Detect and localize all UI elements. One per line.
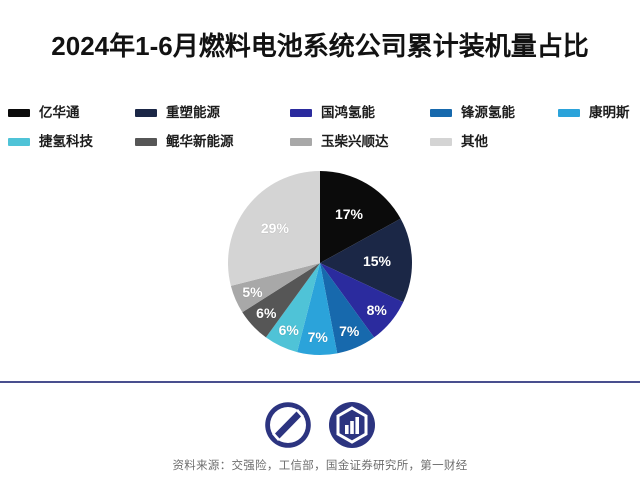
pie-slice-label-2: 8% bbox=[367, 302, 387, 318]
legend-item-5[interactable]: 捷氢科技 bbox=[8, 133, 93, 151]
legend-label: 其他 bbox=[461, 133, 488, 151]
legend-label: 国鸿氢能 bbox=[321, 104, 375, 122]
footer-divider bbox=[0, 381, 640, 383]
legend-label: 重塑能源 bbox=[166, 104, 220, 122]
brand-logos bbox=[0, 396, 640, 454]
hexagon-bars-logo-icon bbox=[326, 399, 378, 451]
legend-item-1[interactable]: 重塑能源 bbox=[135, 104, 220, 122]
pie-slice-label-4: 7% bbox=[308, 329, 328, 345]
legend-swatch-icon bbox=[8, 138, 30, 146]
legend-swatch-icon bbox=[135, 138, 157, 146]
pie-slice-label-5: 6% bbox=[279, 322, 299, 338]
legend-label: 捷氢科技 bbox=[39, 133, 93, 151]
legend-swatch-icon bbox=[135, 109, 157, 117]
page-title: 2024年1-6月燃料电池系统公司累计装机量占比 bbox=[0, 30, 640, 62]
yicai-circle-logo-icon bbox=[262, 399, 314, 451]
pie-chart: 17%15%8%7%7%6%6%5%29% bbox=[227, 170, 413, 356]
legend-label: 康明斯 bbox=[589, 104, 630, 122]
legend-label: 玉柴兴顺达 bbox=[321, 133, 389, 151]
legend-label: 锋源氢能 bbox=[461, 104, 515, 122]
legend-item-3[interactable]: 锋源氢能 bbox=[430, 104, 515, 122]
legend-swatch-icon bbox=[8, 109, 30, 117]
legend-swatch-icon bbox=[290, 109, 312, 117]
legend-item-0[interactable]: 亿华通 bbox=[8, 104, 80, 122]
pie-slice-label-0: 17% bbox=[335, 206, 363, 222]
legend-swatch-icon bbox=[430, 138, 452, 146]
infographic-page: 2024年1-6月燃料电池系统公司累计装机量占比 亿华通重塑能源国鸿氢能锋源氢能… bbox=[0, 0, 640, 489]
legend-item-2[interactable]: 国鸿氢能 bbox=[290, 104, 375, 122]
pie-slice-label-3: 7% bbox=[339, 323, 359, 339]
legend-item-6[interactable]: 鲲华新能源 bbox=[135, 133, 234, 151]
legend-swatch-icon bbox=[430, 109, 452, 117]
pie-slice-label-1: 15% bbox=[363, 253, 391, 269]
legend-swatch-icon bbox=[558, 109, 580, 117]
chart-legend: 亿华通重塑能源国鸿氢能锋源氢能康明斯捷氢科技鲲华新能源玉柴兴顺达其他 bbox=[0, 104, 640, 154]
legend-item-7[interactable]: 玉柴兴顺达 bbox=[290, 133, 389, 151]
legend-swatch-icon bbox=[290, 138, 312, 146]
legend-item-8[interactable]: 其他 bbox=[430, 133, 488, 151]
pie-slice-label-6: 6% bbox=[256, 305, 276, 321]
legend-label: 亿华通 bbox=[39, 104, 80, 122]
legend-item-4[interactable]: 康明斯 bbox=[558, 104, 630, 122]
legend-label: 鲲华新能源 bbox=[166, 133, 234, 151]
pie-slice-label-7: 5% bbox=[242, 284, 262, 300]
source-note: 资料来源：交强险，工信部，国金证券研究所，第一财经 bbox=[0, 457, 640, 473]
pie-slice-label-8: 29% bbox=[261, 220, 289, 236]
